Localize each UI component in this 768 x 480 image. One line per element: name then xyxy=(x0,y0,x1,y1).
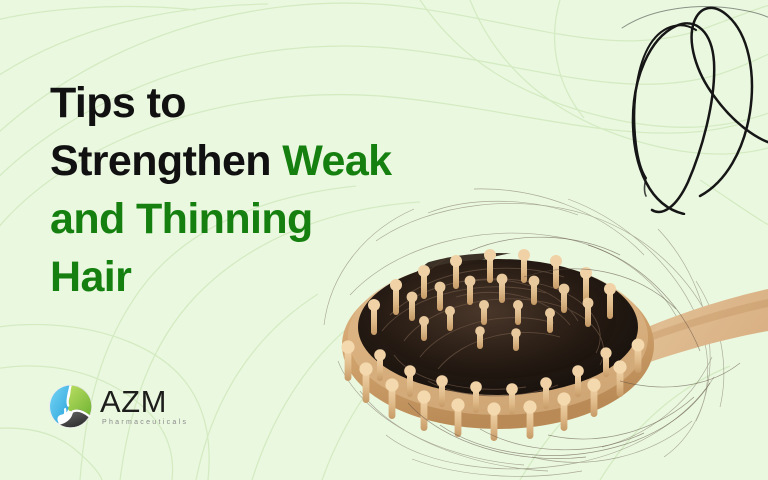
headline-line-1: Tips to xyxy=(50,74,530,132)
logo-tagline: Pharmaceuticals xyxy=(102,419,188,426)
triskelion-swirl-icon xyxy=(48,384,93,429)
headline-text-and-thinning: and Thinning xyxy=(50,195,313,243)
headline-line-4: Hair xyxy=(50,248,530,306)
scribble-decoration-icon xyxy=(608,0,768,215)
logo-wordmark: AZM xyxy=(100,387,188,417)
azm-pharmaceuticals-logo[interactable]: AZM Pharmaceuticals xyxy=(48,384,188,429)
headline-text-weak: Weak xyxy=(282,137,391,185)
headline-text-strengthen: Strengthen xyxy=(50,137,282,185)
headline-line-2: Strengthen Weak xyxy=(50,132,530,190)
brush-handle xyxy=(616,289,768,373)
headline-text-tips-to: Tips to xyxy=(50,79,186,127)
hair-care-promo-banner: Tips to Strengthen Weak and Thinning Hai… xyxy=(0,0,768,480)
headline-text-hair: Hair xyxy=(50,253,131,301)
headline: Tips to Strengthen Weak and Thinning Hai… xyxy=(50,74,530,306)
headline-line-3: and Thinning xyxy=(50,190,530,248)
